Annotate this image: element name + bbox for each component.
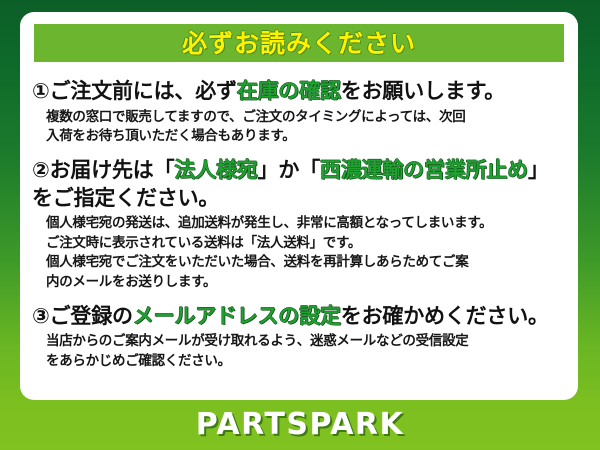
notice-item-2-headline-highlight-2: 西濃運輸の営業所止め — [320, 158, 528, 182]
notice-item-1-marker: ① — [32, 79, 50, 103]
notice-item-2: ②お届け先は「法人様宛」か「西濃運輸の営業所止め」 をご指定ください。 個人様宅… — [32, 157, 568, 293]
notice-item-1: ①ご注文前には、必ず在庫の確認をお願いします。 複数の窓口で販売してますので、ご… — [32, 78, 568, 147]
notice-item-3-body-line-2: をあらかじめご確認ください。 — [46, 352, 568, 372]
notice-item-2-body-line-2: ご注文時に表示されている送料は「法人送料」です。 — [46, 234, 568, 254]
brand-logo: PARTSPARK — [196, 410, 405, 440]
notice-item-1-headline-post: をお願いします。 — [341, 79, 505, 103]
notice-item-2-marker: ② — [32, 158, 50, 182]
footer: PARTSPARK — [0, 400, 600, 450]
notice-item-1-headline-pre: ご注文前には、必ず — [50, 79, 237, 103]
notice-panel: 必ずお読みください ①ご注文前には、必ず在庫の確認をお願いします。 複数の窓口で… — [20, 12, 578, 400]
notice-item-3: ③ご登録のメールアドレスの設定をお確かめください。 当店からのご案内メールが受け… — [32, 303, 568, 372]
notice-item-3-body: 当店からのご案内メールが受け取れるよう、迷惑メールなどの受信設定 をあらかじめご… — [46, 332, 568, 371]
notice-item-1-body-line-1: 複数の窓口で販売してますので、ご注文のタイミングによっては、次回 — [46, 108, 568, 128]
notice-banner: 必ずお読みください ①ご注文前には、必ず在庫の確認をお願いします。 複数の窓口で… — [0, 0, 600, 450]
notice-item-2-headline-pre: お届け先は「 — [50, 158, 175, 182]
notice-item-2-body-line-1: 個人様宅宛の発送は、追加送料が発生し、非常に高額となってしまいます。 — [46, 214, 568, 234]
notice-item-2-headline: ②お届け先は「法人様宛」か「西濃運輸の営業所止め」 — [32, 157, 568, 185]
notice-item-1-headline-highlight: 在庫の確認 — [237, 79, 341, 103]
notice-item-3-headline-post: をお確かめください。 — [341, 304, 549, 328]
notice-item-1-headline: ①ご注文前には、必ず在庫の確認をお願いします。 — [32, 78, 568, 106]
notice-item-3-marker: ③ — [32, 304, 50, 328]
notice-item-1-body-line-2: 入荷をお待ち頂いただく場合もあります。 — [46, 127, 568, 147]
notice-item-2-headline-line-2: をご指定ください。 — [32, 185, 568, 213]
notice-item-2-body-line-4: 内のメールをお送りします。 — [46, 273, 568, 293]
notice-item-2-body-line-3: 個人様宅宛でご注文をいただいた場合、送料を再計算しあらためてご案 — [46, 253, 568, 273]
notice-item-2-headline-mid: 」か「 — [258, 158, 320, 182]
notice-item-2-headline-post: 」 — [528, 158, 549, 182]
notice-item-2-body: 個人様宅宛の発送は、追加送料が発生し、非常に高額となってしまいます。 ご注文時に… — [46, 214, 568, 292]
notice-item-3-body-line-1: 当店からのご案内メールが受け取れるよう、迷惑メールなどの受信設定 — [46, 332, 568, 352]
notice-item-3-headline-pre: ご登録の — [50, 304, 133, 328]
notice-item-1-body: 複数の窓口で販売してますので、ご注文のタイミングによっては、次回 入荷をお待ち頂… — [46, 108, 568, 147]
notice-content: ①ご注文前には、必ず在庫の確認をお願いします。 複数の窓口で販売してますので、ご… — [20, 70, 578, 375]
notice-header-title: 必ずお読みください — [182, 31, 416, 56]
notice-item-3-headline: ③ご登録のメールアドレスの設定をお確かめください。 — [32, 303, 568, 331]
notice-item-3-headline-highlight: メールアドレスの設定 — [133, 304, 341, 328]
notice-item-2-headline-highlight: 法人様宛 — [174, 158, 257, 182]
notice-header-bar: 必ずお読みください — [34, 24, 564, 62]
